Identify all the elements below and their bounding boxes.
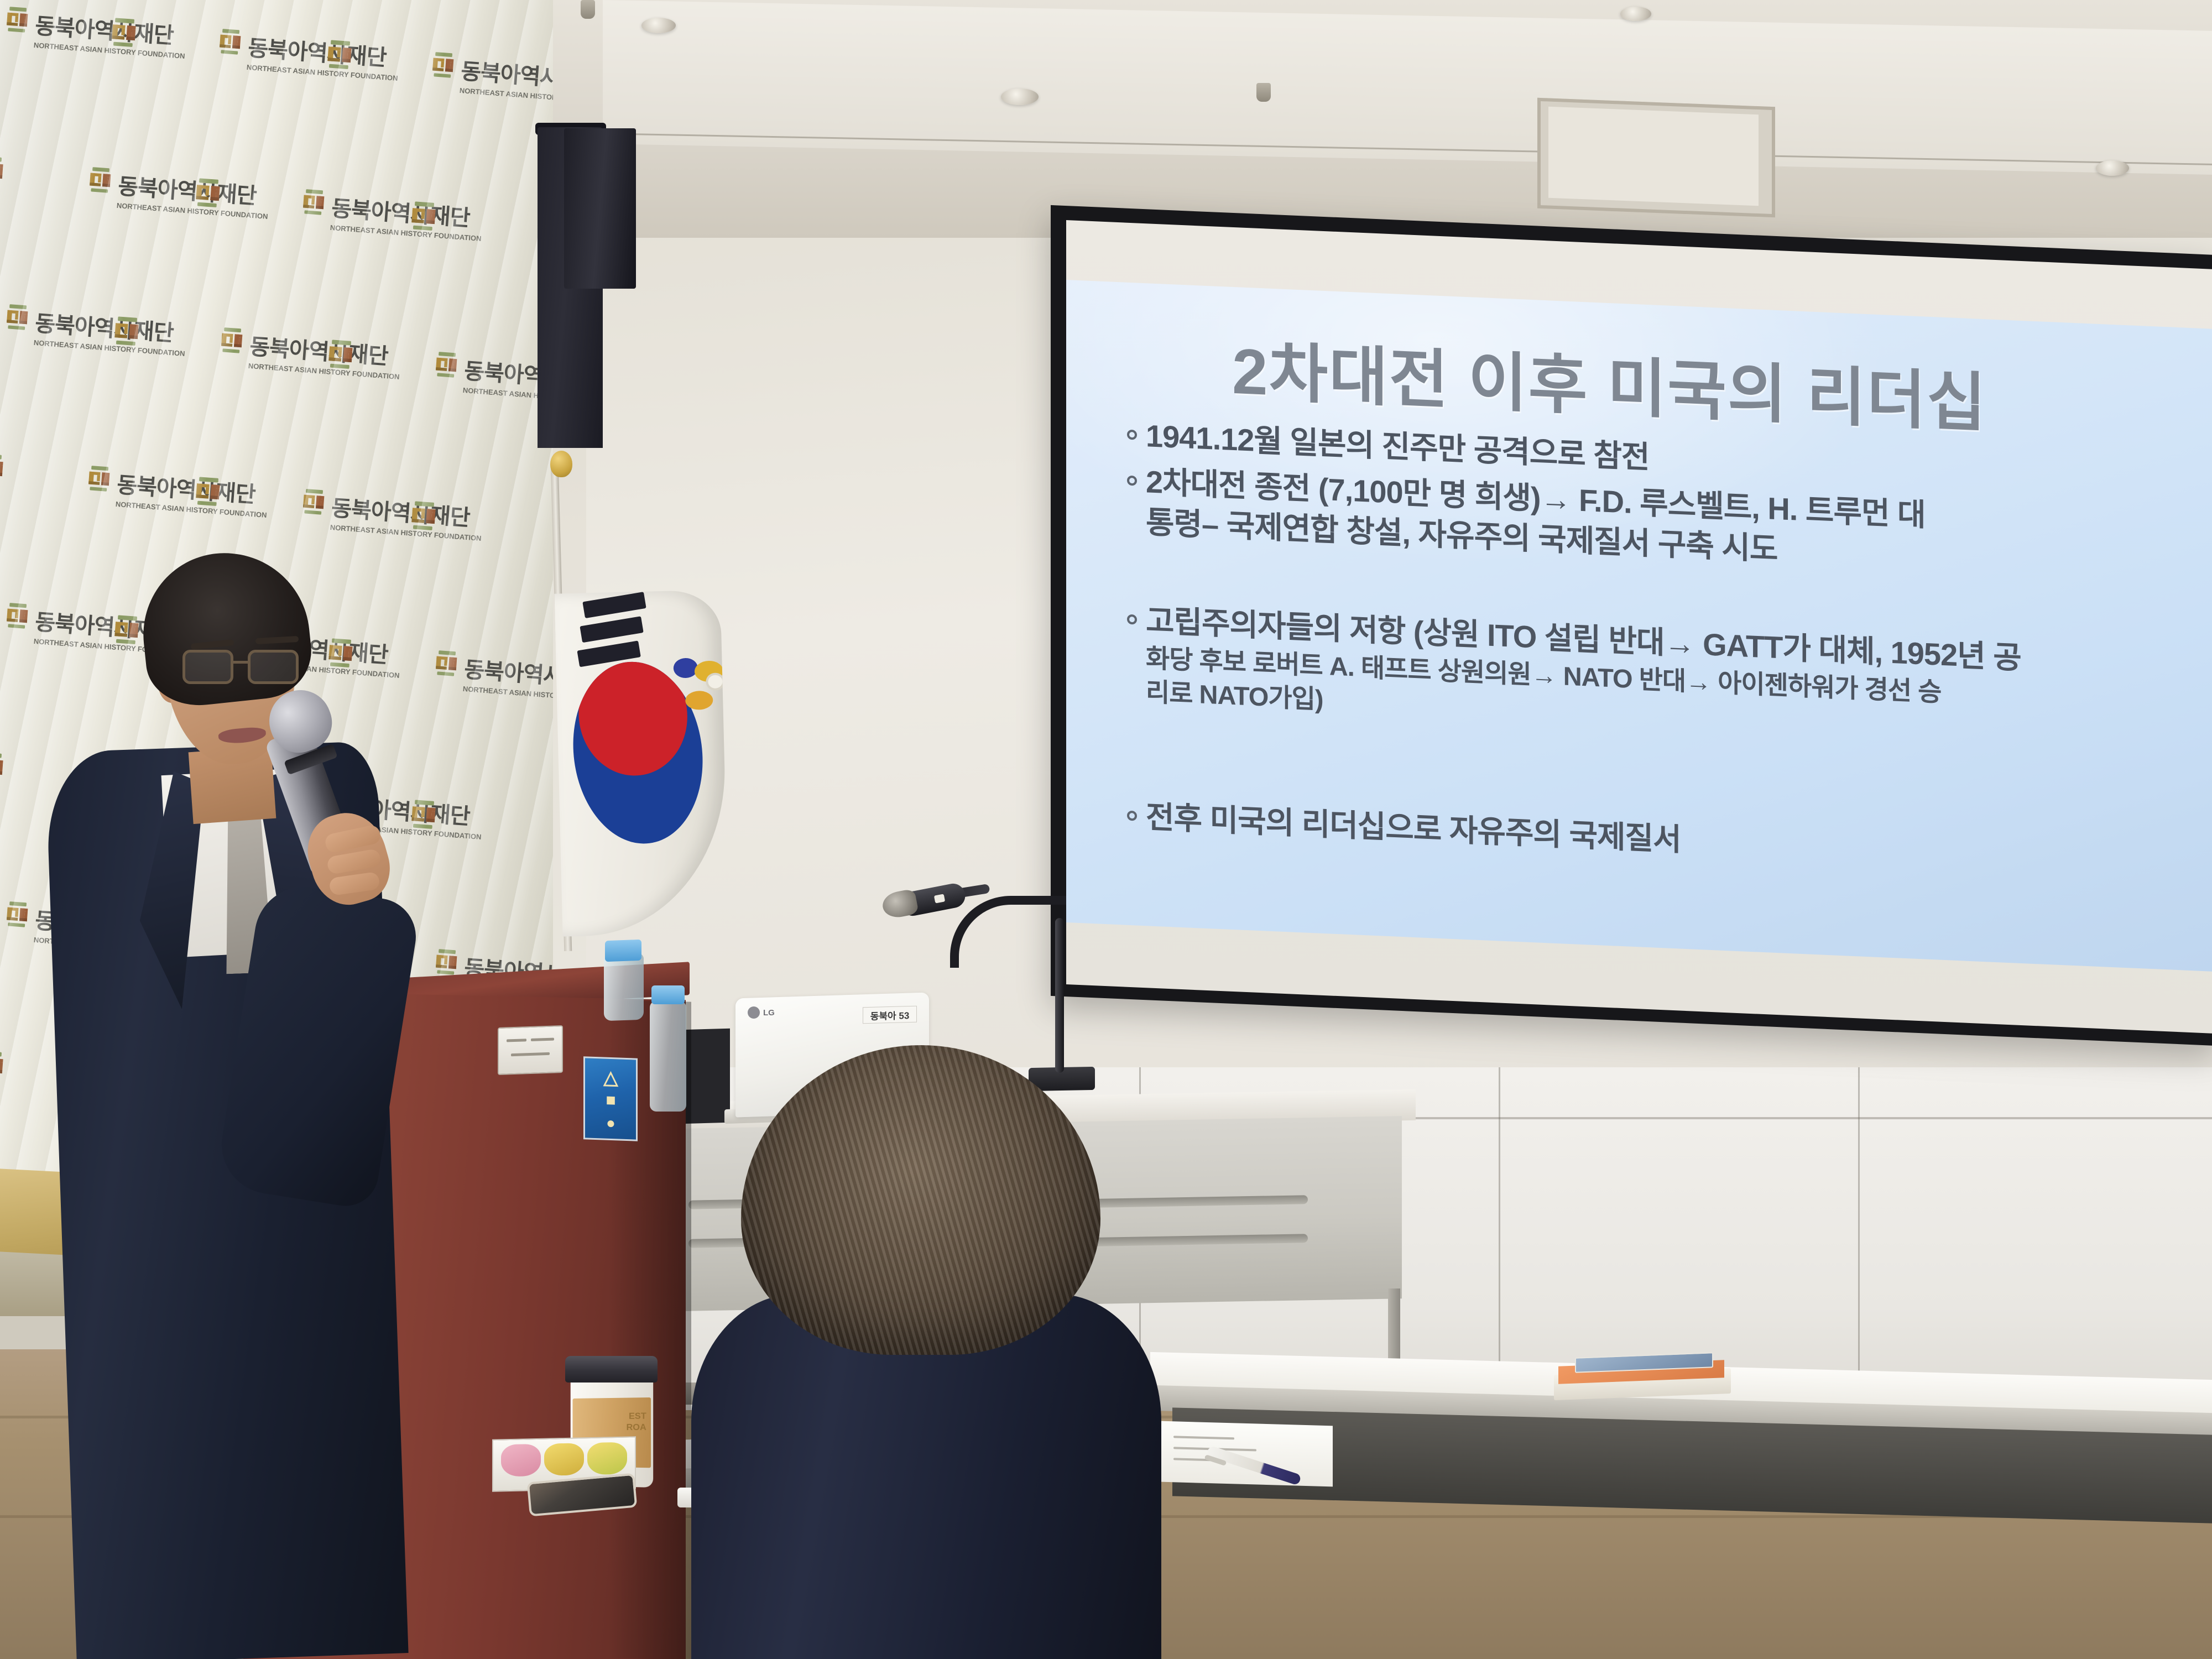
water-bottle-cap (605, 940, 641, 962)
downlight-icon (641, 18, 676, 33)
maze-emblem-icon (216, 28, 243, 56)
banner-logo-emblem-only (408, 200, 439, 235)
maze-emblem-icon (408, 200, 439, 232)
banner-org-name-ko: 동북아역사재단 (463, 651, 553, 695)
eyeglasses-icon (182, 650, 301, 686)
maze-emblem-icon (3, 303, 30, 332)
banner-logo-emblem-only (324, 39, 355, 74)
banner-org-name-en: NORTHEAST ASIAN HISTORY FOUNDATION (33, 338, 185, 358)
banner-logo-emblem-only (408, 799, 439, 833)
maze-emblem-icon (300, 188, 327, 217)
maze-emblem-icon (192, 476, 223, 510)
slide-body: 1941.12월 일본의 진주만 공격으로 참전 2차대전 종전 (7,100만… (1127, 415, 2190, 888)
banner-org-name-ko: 동북아역사재단 (460, 53, 553, 96)
banner-logo-emblem-only (111, 315, 142, 350)
banner-logo-emblem-only (0, 751, 7, 786)
laptop-brand-label: LG (763, 1008, 775, 1018)
water-bottle-cap (651, 985, 685, 1004)
maze-emblem-icon (429, 51, 457, 82)
maze-emblem-icon (0, 751, 7, 786)
maze-emblem-icon (0, 155, 7, 187)
banner-org-name-en: NORTHEAST ASIAN HISTORY FOUNDATION (246, 63, 398, 82)
screen-surface: 2차대전 이후 미국의 리더십 1941.12월 일본의 진주만 공격으로 참전 (1066, 220, 2212, 1034)
bullet-circle-icon (1127, 430, 1137, 440)
downlight-icon (1001, 88, 1039, 105)
sweet-yellow (544, 1443, 584, 1476)
banner-org-name-ko: 동북아역사재단 (247, 30, 401, 73)
projection-screen: 2차대전 이후 미국의 리더십 1941.12월 일본의 진주만 공격으로 참전 (1051, 205, 2212, 1046)
banner-logo-emblem-only (0, 1050, 7, 1084)
banner-logo-emblem-only (192, 177, 223, 212)
flag-finial-icon (550, 451, 572, 477)
maze-emblem-icon (3, 602, 31, 633)
banner-org-name-ko: 동북아역사재단 (116, 467, 270, 510)
coffee-sleeve-text: ESTROA (627, 1411, 646, 1433)
banner-org-name-en: NORTHEAST ASIAN HISTORY FOUNDATION (330, 223, 482, 243)
banner-org-name-ko: 동북아역사재단 (331, 490, 484, 533)
lg-logo-icon (748, 1006, 760, 1019)
maze-emblem-icon (408, 500, 439, 535)
banner-logo: 동북아역사재단 NORTHEAST ASIAN HISTORY FOUNDATI… (429, 51, 553, 106)
banner-org-name-en: NORTHEAST ASIAN HISTORY FOUNDATION (459, 86, 553, 106)
water-bottle[interactable] (604, 953, 644, 1021)
banner-org-name-en: NORTHEAST ASIAN HISTORY FOUNDATION (116, 201, 268, 221)
sprinkler-icon (1256, 83, 1271, 102)
maze-emblem-icon (192, 177, 223, 209)
banner-org-name-en: NORTHEAST ASIAN HISTORY FOUNDATION (248, 362, 400, 381)
banner-logo: 동북아역사재단 NORTHEAST ASIAN HISTORY FOUNDATI… (216, 28, 401, 82)
banner-logo: 동북아역사재단 NORTHEAST ASIAN HISTORY FOUNDATI… (432, 649, 553, 704)
seminar-room-photo: 동북아역사재단 NORTHEAST ASIAN HISTORY FOUNDATI… (0, 0, 2212, 1659)
maze-emblem-icon (218, 326, 245, 355)
banner-org-name-en: NORTHEAST ASIAN HISTORY FOUNDATION (33, 41, 185, 60)
maze-emblem-icon (216, 28, 244, 59)
banner-logo-emblem-only (325, 338, 356, 373)
banner-logo-emblem-only (0, 155, 7, 190)
maze-emblem-icon (218, 326, 246, 358)
maze-emblem-icon (408, 200, 439, 235)
maze-emblem-icon (0, 751, 7, 783)
bullet-circle-icon (1127, 476, 1137, 486)
laptop-asset-tag: 동북아 53 (863, 1006, 917, 1024)
maze-emblem-icon (0, 155, 7, 190)
maze-emblem-icon (192, 476, 223, 508)
maze-emblem-icon (85, 465, 113, 496)
banner-org-name-ko: 동북아역사재단 (34, 8, 188, 51)
maze-emblem-icon (432, 351, 460, 382)
maze-emblem-icon (325, 637, 356, 669)
maze-emblem-icon (111, 315, 142, 350)
maze-emblem-icon (86, 166, 114, 197)
banner-logo: 동북아역사재단 NORTHEAST ASIAN HISTORY FOUNDATI… (85, 465, 270, 519)
water-bottle[interactable] (650, 1001, 686, 1112)
maze-emblem-icon (108, 17, 139, 51)
sweet-green (587, 1442, 627, 1475)
banner-logo-emblem-only (325, 637, 356, 672)
maze-emblem-icon (325, 338, 356, 371)
paper-sheet (1161, 1421, 1333, 1487)
banner-logo: 동북아역사재단 NORTHEAST ASIAN HISTORY FOUNDATI… (3, 303, 188, 358)
maze-emblem-icon (3, 900, 31, 932)
maze-emblem-icon (432, 649, 460, 681)
coffee-cup-lid (565, 1356, 658, 1383)
presentation-slide: 2차대전 이후 미국의 리더십 1941.12월 일본의 진주만 공격으로 참전 (1066, 280, 2212, 972)
maze-emblem-icon (408, 799, 439, 833)
maze-emblem-icon (0, 1050, 7, 1084)
banner-logo-emblem-only (0, 452, 7, 487)
maze-emblem-icon (300, 188, 327, 220)
maze-emblem-icon (432, 351, 460, 379)
maze-emblem-icon (429, 51, 456, 80)
maze-emblem-icon (325, 338, 356, 373)
maze-emblem-icon (0, 452, 7, 487)
podium-sign: △ ■ ● (583, 1056, 638, 1141)
maze-emblem-icon (300, 488, 327, 519)
banner-logo-emblem-only (108, 17, 139, 51)
maze-emblem-icon (3, 602, 30, 630)
ceiling-vent-inner (1548, 107, 1759, 206)
maze-emblem-icon (111, 315, 142, 347)
maze-emblem-icon (3, 6, 30, 34)
maze-emblem-icon (0, 1050, 7, 1082)
maze-emblem-icon (325, 637, 356, 672)
maze-emblem-icon (86, 166, 113, 195)
banner-org-name-ko: 동북아역사재단 (249, 328, 403, 372)
maze-emblem-icon (111, 614, 142, 649)
maze-emblem-icon (3, 900, 30, 929)
banner-logo: 동북아역사재단 NORTHEAST ASIAN HISTORY FOUNDATI… (3, 6, 188, 60)
banner-logo-emblem-only (111, 614, 142, 649)
asset-tag-text: 동북아 53 (870, 1008, 910, 1022)
banner-logo-emblem-only (192, 476, 223, 510)
banner-logo: 동북아역사재단 NORTHEAST ASIAN HISTORY FOUNDATI… (432, 351, 553, 405)
banner-org-name-ko: 동북아역사재단 (117, 168, 271, 211)
maze-emblem-icon (85, 465, 112, 493)
maze-emblem-icon (432, 948, 460, 977)
sweet-pink (501, 1444, 541, 1477)
banner-logo-emblem-only (408, 500, 439, 535)
banner-org-name-en: NORTHEAST ASIAN HISTORY FOUNDATION (462, 685, 553, 704)
banner-logo: 동북아역사재단 NORTHEAST ASIAN HISTORY FOUNDATI… (86, 166, 271, 221)
banner-logo: 동북아역사재단 NORTHEAST ASIAN HISTORY FOUNDATI… (299, 488, 484, 542)
maze-emblem-icon (300, 488, 327, 517)
maze-emblem-icon (3, 6, 31, 37)
podium-name-plate (498, 1025, 563, 1075)
banner-org-name-ko: 동북아역사재단 (331, 190, 484, 233)
maze-emblem-icon (324, 39, 355, 74)
banner-logo: 동북아역사재단 NORTHEAST ASIAN HISTORY FOUNDATI… (217, 326, 403, 381)
maze-emblem-icon (3, 303, 31, 335)
maze-emblem-icon (192, 177, 223, 212)
maze-emblem-icon (408, 799, 439, 831)
downlight-icon (1620, 7, 1651, 21)
maze-emblem-icon (324, 39, 355, 71)
taeguk-symbol (562, 654, 713, 852)
wall-speaker-box (564, 128, 636, 289)
banner-org-name-en: NORTHEAST ASIAN HISTORY FOUNDATION (115, 500, 267, 519)
banner-logo: 동북아역사재단 NORTHEAST ASIAN HISTORY FOUNDATI… (299, 188, 484, 243)
maze-emblem-icon (432, 649, 460, 678)
downlight-icon (2096, 160, 2129, 176)
banner-org-name-en: NORTHEAST ASIAN HISTORY FOUNDATION (330, 523, 482, 542)
maze-emblem-icon (0, 452, 7, 484)
maze-emblem-icon (408, 500, 439, 532)
maze-emblem-icon (108, 17, 139, 49)
maze-emblem-icon (111, 614, 142, 646)
banner-org-name-ko: 동북아역사재단 (34, 305, 188, 348)
sprinkler-icon (581, 0, 595, 19)
